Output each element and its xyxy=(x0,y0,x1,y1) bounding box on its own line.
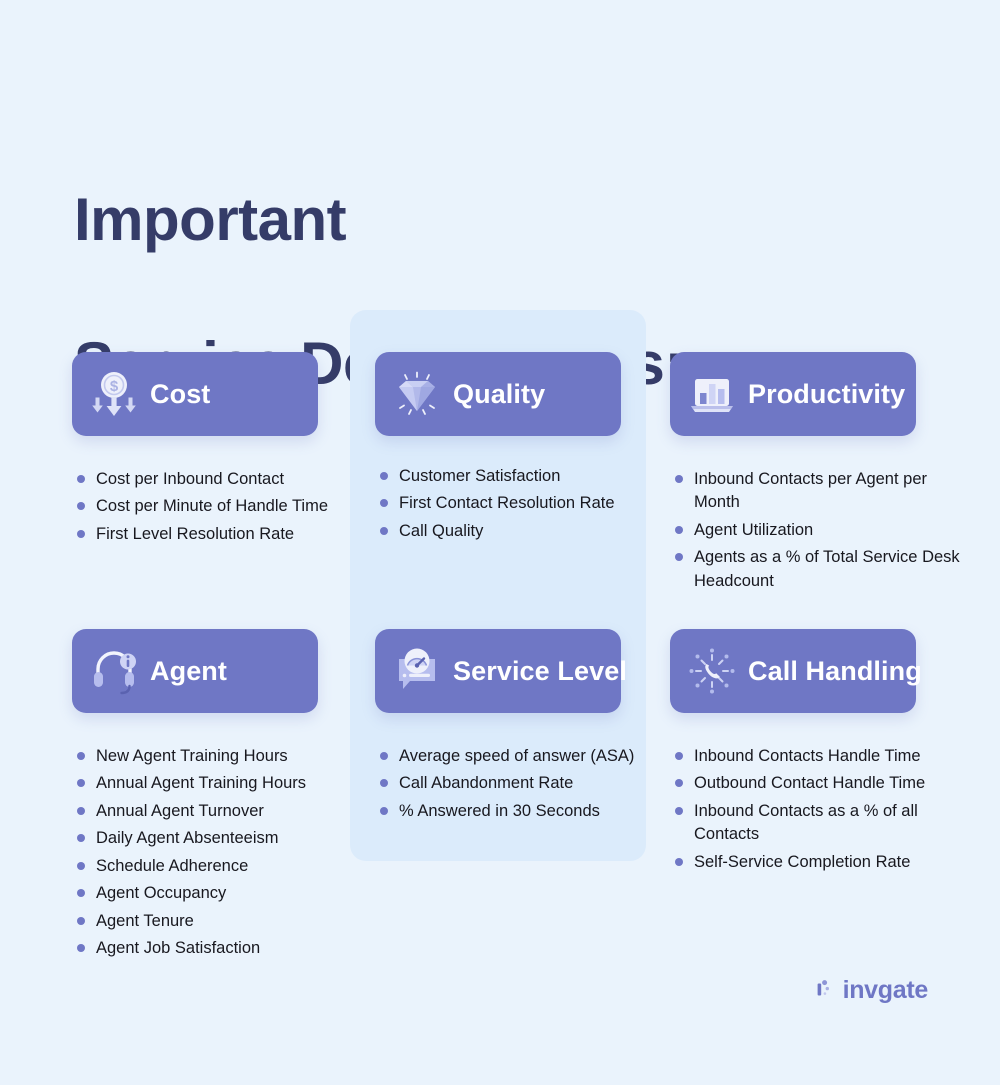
list-item: Agent Job Satisfaction xyxy=(72,937,368,960)
coin-dollar-down-arrows-icon: $ xyxy=(86,366,142,422)
card-label-cost: Cost xyxy=(150,379,210,410)
card-label-quality: Quality xyxy=(453,379,545,410)
card-label-call-handling: Call Handling xyxy=(748,656,922,687)
card-label-agent: Agent xyxy=(150,656,227,687)
diamond-gem-icon xyxy=(389,366,445,422)
metric-list-productivity: Inbound Contacts per Agent per Month Age… xyxy=(670,468,966,593)
list-item: Agent Tenure xyxy=(72,910,368,933)
invgate-circle-mark-icon xyxy=(807,974,834,1006)
list-item: Customer Satisfaction xyxy=(375,465,671,488)
list-item: Annual Agent Turnover xyxy=(72,800,368,823)
list-item: % Answered in 30 Seconds xyxy=(375,800,671,823)
bar-chart-laptop-icon xyxy=(684,366,740,422)
metric-list-call-handling: Inbound Contacts Handle Time Outbound Co… xyxy=(670,745,966,874)
card-header-agent[interactable]: Agent xyxy=(72,629,318,713)
headset-info-icon xyxy=(86,643,142,699)
metric-group-service-level: Service Level Average speed of answer (A… xyxy=(375,629,671,827)
card-header-cost[interactable]: $ Cost xyxy=(72,352,318,436)
metrics-grid: $ Cost Cost per Inbound Contact Cost per… xyxy=(0,0,1000,1085)
card-label-service-level: Service Level xyxy=(453,656,627,687)
list-item: First Level Resolution Rate xyxy=(72,523,368,546)
metric-group-productivity: Productivity Inbound Contacts per Agent … xyxy=(670,352,966,597)
card-header-call-handling[interactable]: Call Handling xyxy=(670,629,916,713)
brand-logo-text: invgate xyxy=(843,976,928,1005)
metric-group-cost: $ Cost Cost per Inbound Contact Cost per… xyxy=(72,352,368,550)
list-item: Call Abandonment Rate xyxy=(375,772,671,795)
metric-list-agent: New Agent Training Hours Annual Agent Tr… xyxy=(72,745,368,960)
card-label-productivity: Productivity xyxy=(748,379,905,410)
infographic-page: Important Service Desk Metrics: $ xyxy=(0,0,1000,1085)
metric-list-service-level: Average speed of answer (ASA) Call Aband… xyxy=(375,745,671,823)
list-item: Daily Agent Absenteeism xyxy=(72,827,368,850)
list-item: Agent Utilization xyxy=(670,519,966,542)
list-item: Agent Occupancy xyxy=(72,882,368,905)
list-item: Annual Agent Training Hours xyxy=(72,772,368,795)
list-item: Call Quality xyxy=(375,520,671,543)
list-item: First Contact Resolution Rate xyxy=(375,492,671,515)
card-header-service-level[interactable]: Service Level xyxy=(375,629,621,713)
list-item: Outbound Contact Handle Time xyxy=(670,772,966,795)
metric-group-quality: Quality Customer Satisfaction First Cont… xyxy=(375,352,671,547)
list-item: Agents as a % of Total Service Desk Head… xyxy=(670,546,966,593)
list-item: Schedule Adherence xyxy=(72,855,368,878)
card-header-quality[interactable]: Quality xyxy=(375,352,621,436)
brand-logo: invgate xyxy=(807,974,928,1006)
svg-text:$: $ xyxy=(110,378,119,395)
card-header-productivity[interactable]: Productivity xyxy=(670,352,916,436)
list-item: Self-Service Completion Rate xyxy=(670,851,966,874)
speech-bubble-gauge-icon xyxy=(389,643,445,699)
phone-handset-rays-icon xyxy=(684,643,740,699)
metric-group-call-handling: Call Handling Inbound Contacts Handle Ti… xyxy=(670,629,966,878)
metric-list-cost: Cost per Inbound Contact Cost per Minute… xyxy=(72,468,368,546)
metric-group-agent: Agent New Agent Training Hours Annual Ag… xyxy=(72,629,368,964)
list-item: Average speed of answer (ASA) xyxy=(375,745,671,768)
list-item: Cost per Inbound Contact xyxy=(72,468,368,491)
list-item: Cost per Minute of Handle Time xyxy=(72,495,368,518)
list-item: Inbound Contacts Handle Time xyxy=(670,745,966,768)
list-item: Inbound Contacts per Agent per Month xyxy=(670,468,966,515)
metric-list-quality: Customer Satisfaction First Contact Reso… xyxy=(375,465,671,543)
list-item: Inbound Contacts as a % of all Contacts xyxy=(670,800,966,847)
list-item: New Agent Training Hours xyxy=(72,745,368,768)
